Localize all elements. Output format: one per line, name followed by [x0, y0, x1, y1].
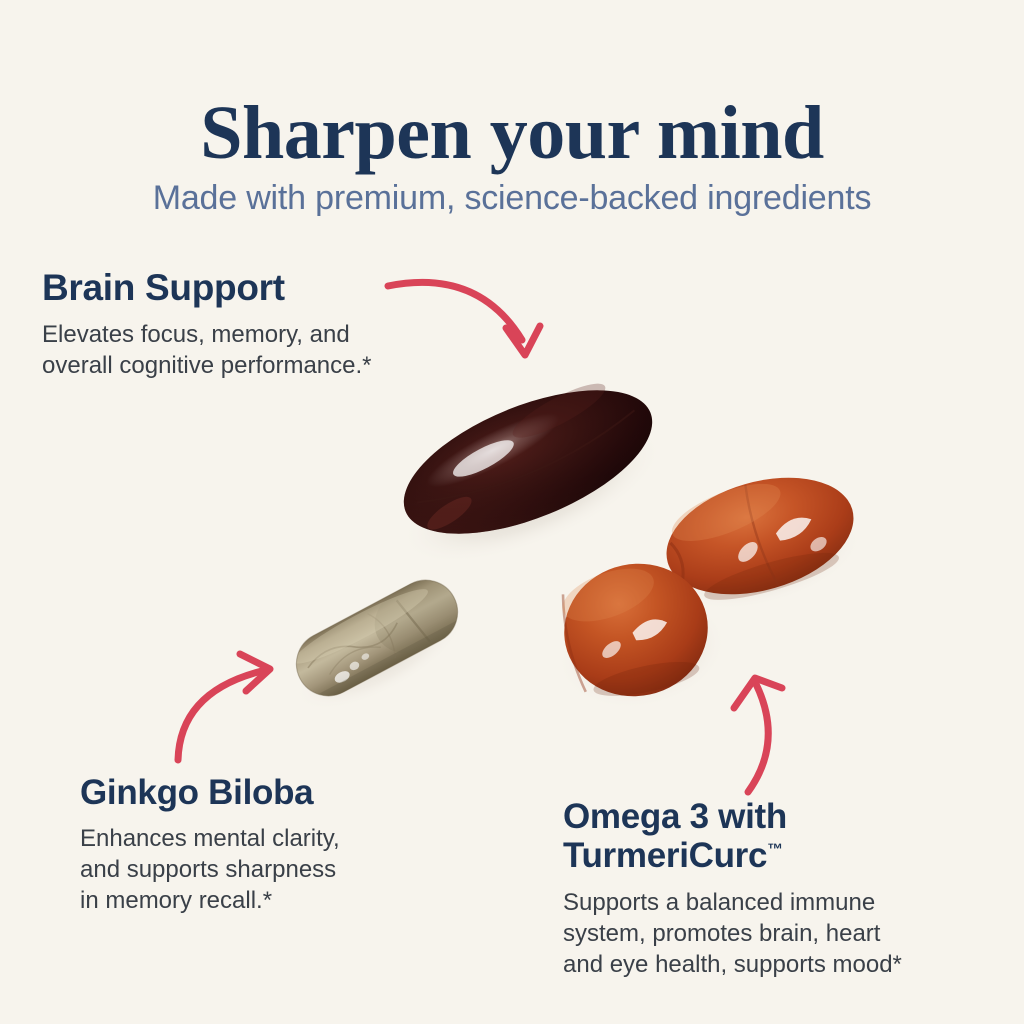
callout-brain-support-body: Elevates focus, memory, and overall cogn…	[42, 320, 462, 381]
page-subtitle: Made with premium, science-backed ingred…	[0, 180, 1024, 217]
product-ingredient-infographic: Sharpen your mind Made with premium, sci…	[0, 0, 1024, 1024]
callout-ginkgo-biloba-title: Ginkgo Biloba	[80, 774, 440, 812]
orange-softgel-front	[532, 540, 752, 720]
callout-ginkgo-biloba-body: Enhances mental clarity, and supports sh…	[80, 823, 440, 917]
callout-ginkgo-biloba: Ginkgo Biloba Enhances mental clarity, a…	[80, 774, 440, 916]
callout-omega-3-title-line1: Omega 3 with	[563, 797, 787, 836]
page-title: Sharpen your mind	[0, 95, 1024, 173]
callout-omega-3: Omega 3 with TurmeriCurc™ Supports a bal…	[563, 798, 983, 981]
callout-omega-3-body: Supports a balanced immune system, promo…	[563, 887, 983, 981]
callout-omega-3-title-line2: TurmeriCurc	[563, 836, 767, 875]
callout-brain-support-title: Brain Support	[42, 268, 462, 308]
callout-omega-3-title: Omega 3 with TurmeriCurc™	[563, 798, 983, 875]
dark-brown-softgel	[380, 362, 680, 562]
trademark-symbol: ™	[767, 841, 783, 858]
beige-capsule	[272, 548, 492, 728]
callout-brain-support: Brain Support Elevates focus, memory, an…	[42, 268, 462, 381]
